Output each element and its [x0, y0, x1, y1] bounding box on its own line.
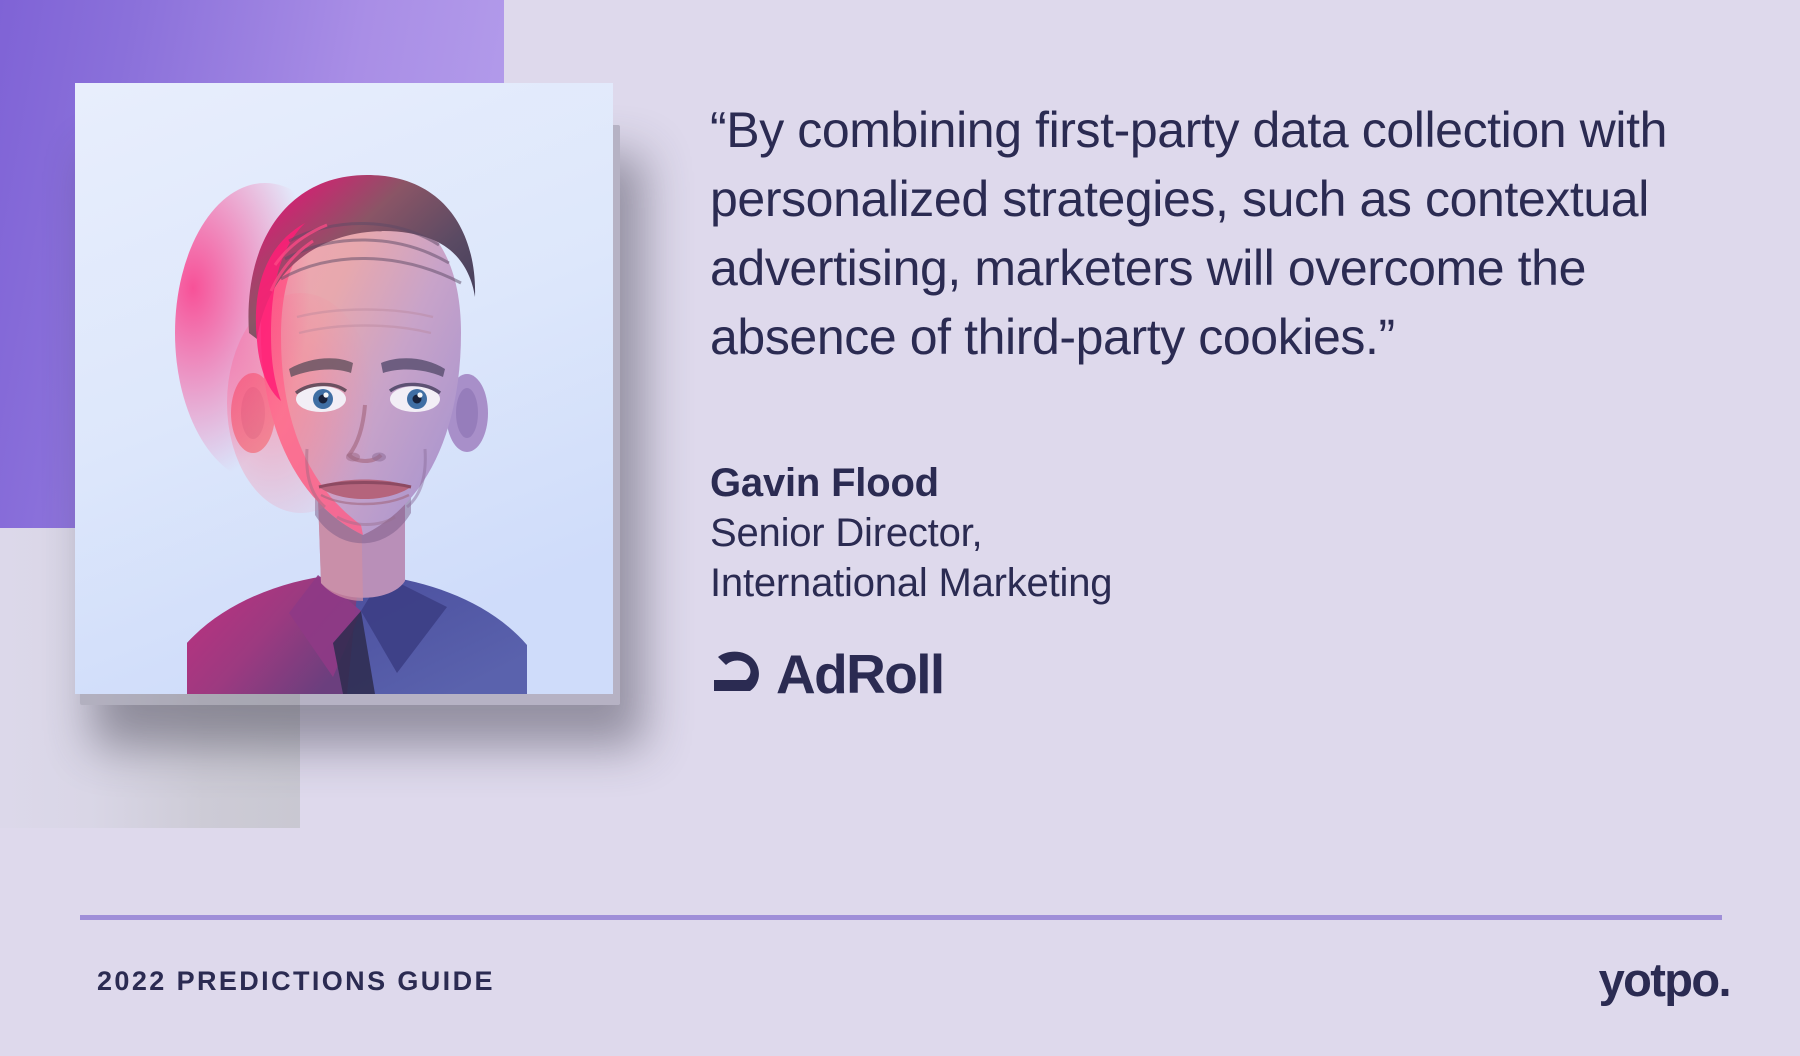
person-role-line-2: International Marketing	[710, 558, 1730, 608]
adroll-arc-icon	[710, 650, 762, 698]
quote-card: “By combining first-party data collectio…	[0, 0, 1800, 1056]
portrait-photo	[75, 83, 613, 694]
footer: 2022 PREDICTIONS GUIDE yotpo.	[0, 960, 1800, 1020]
yotpo-logo: yotpo.	[1599, 952, 1730, 1008]
portrait-illustration	[75, 83, 613, 694]
attribution-block: Gavin Flood Senior Director, Internation…	[710, 458, 1730, 608]
footer-guide-label: 2022 PREDICTIONS GUIDE	[97, 964, 495, 998]
quote-text: “By combining first-party data collectio…	[710, 96, 1730, 372]
adroll-wordmark: AdRoll	[776, 647, 944, 702]
person-role-line-1: Senior Director,	[710, 508, 1730, 558]
adroll-logo: AdRoll	[710, 646, 1730, 702]
quote-content: “By combining first-party data collectio…	[710, 96, 1730, 702]
person-name: Gavin Flood	[710, 458, 1730, 508]
footer-divider	[80, 915, 1722, 920]
